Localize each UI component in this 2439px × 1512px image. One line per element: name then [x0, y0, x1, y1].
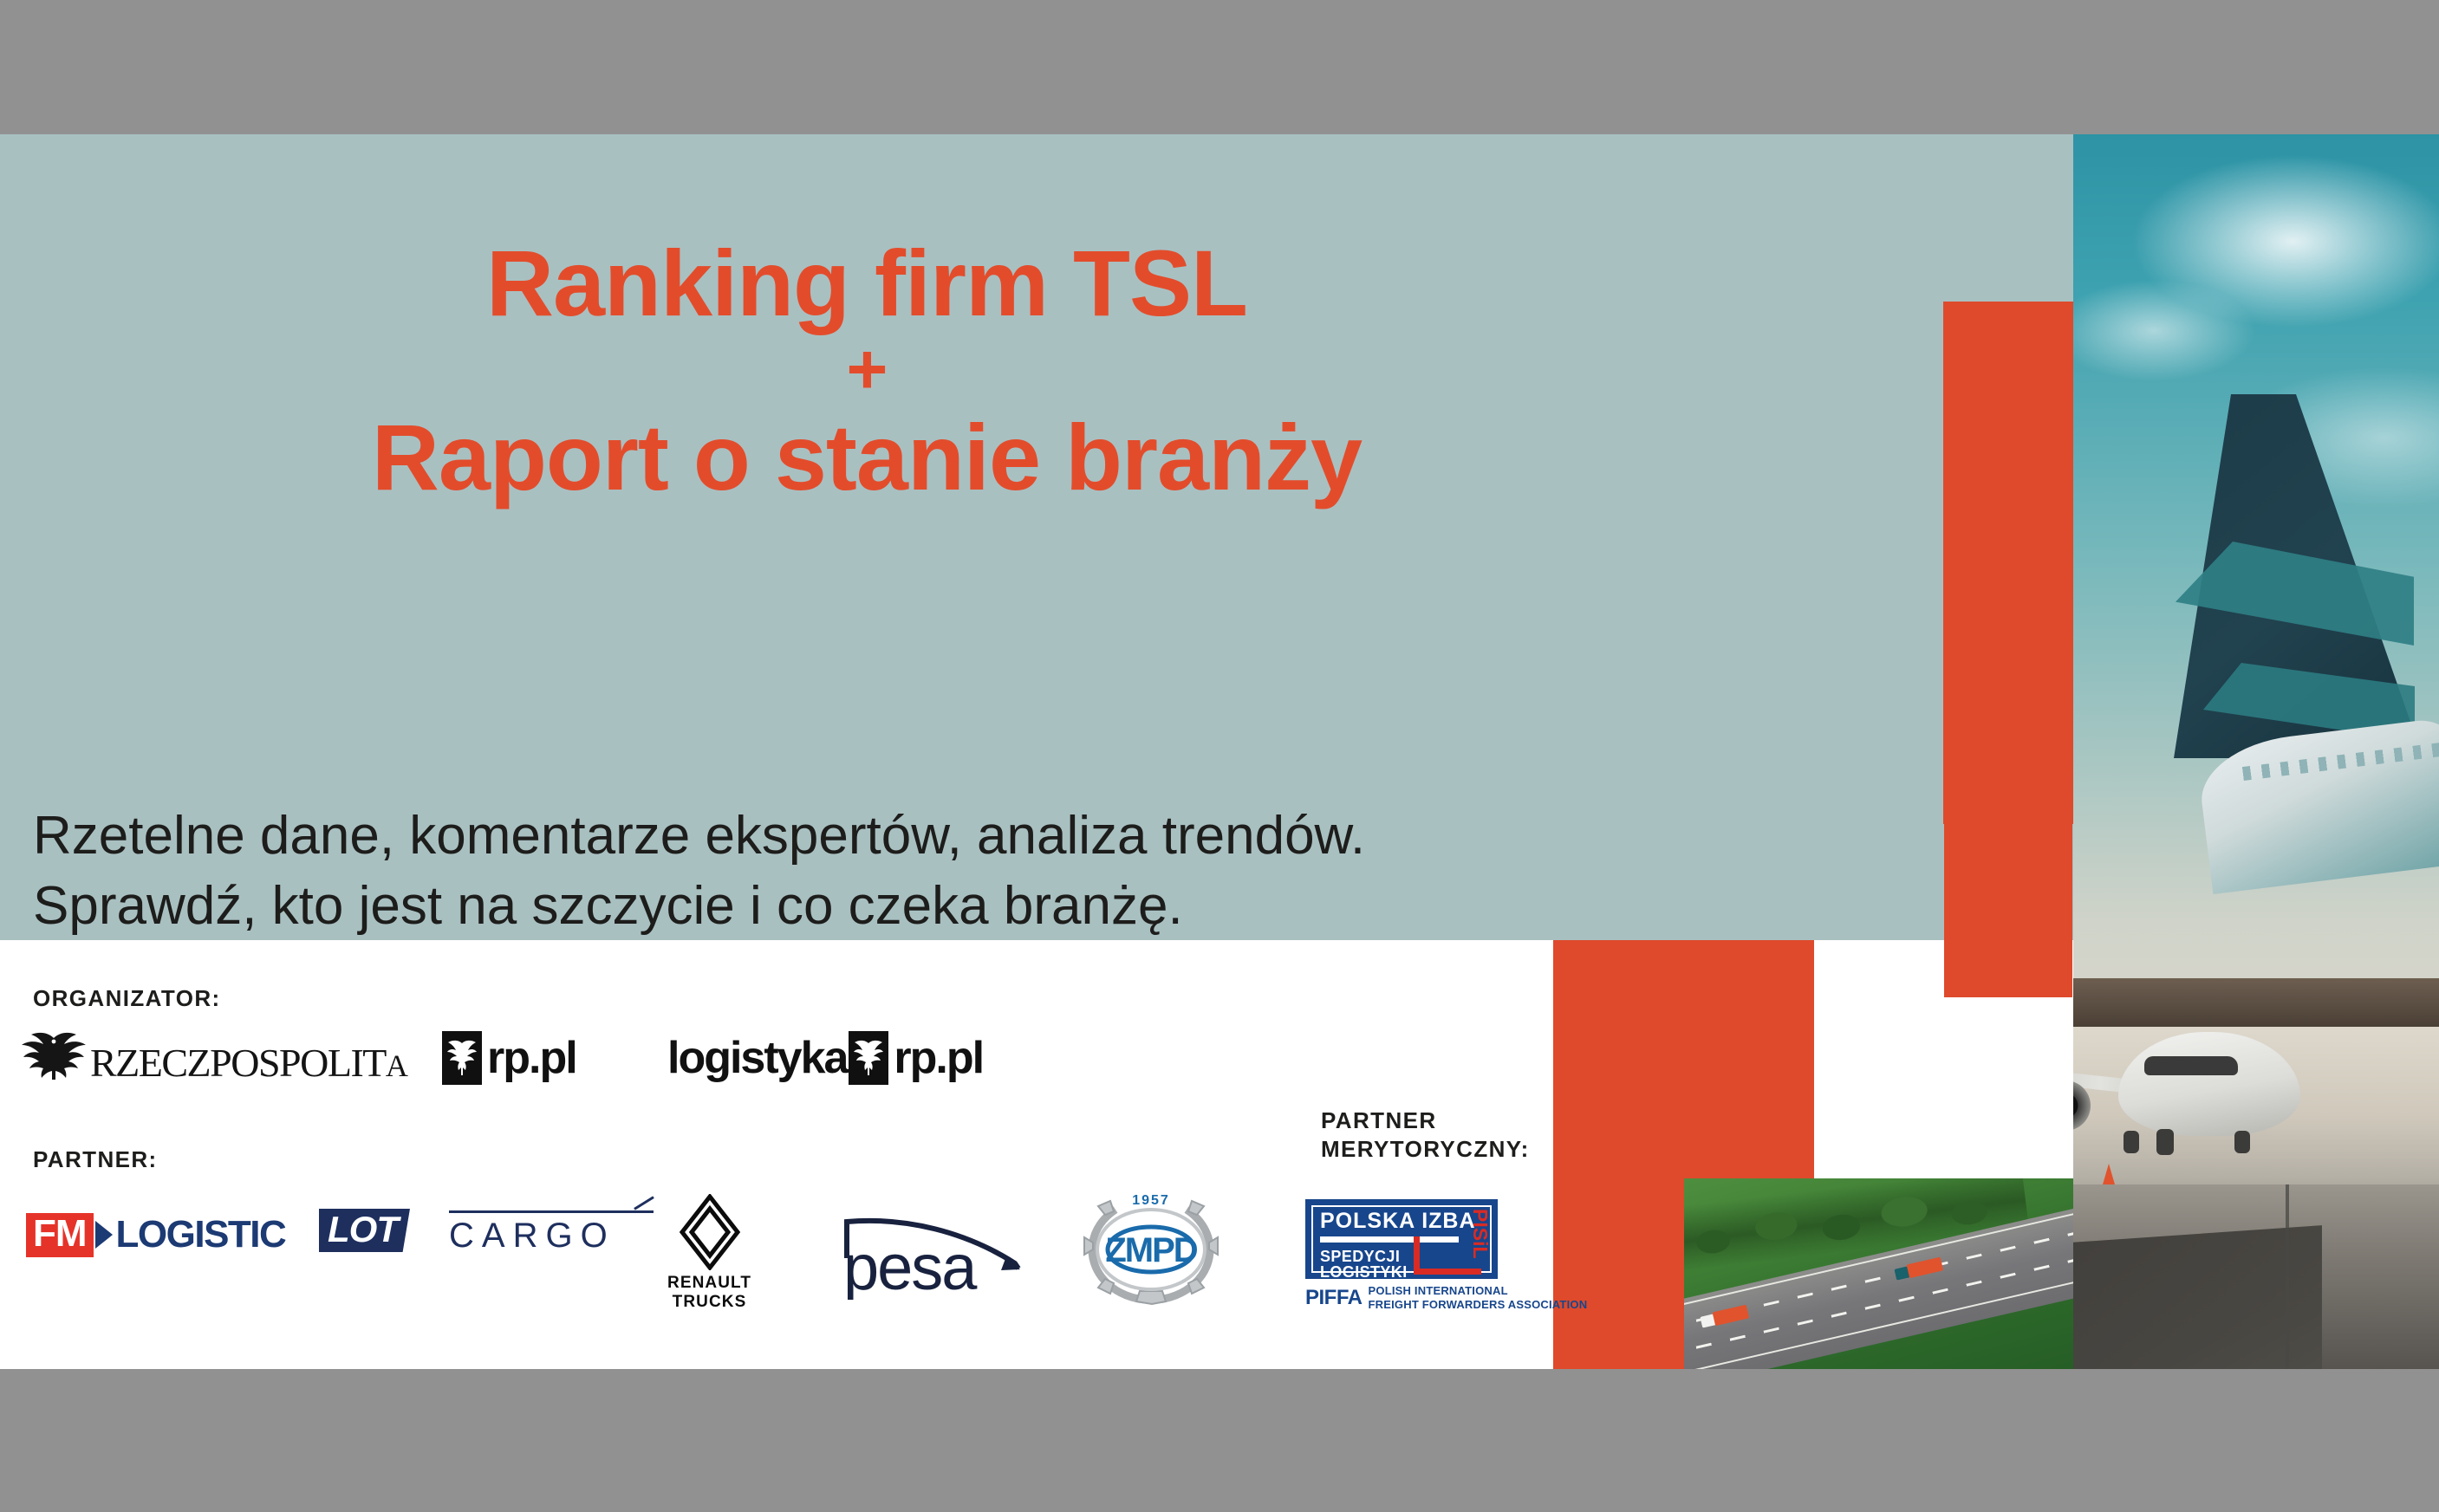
banner-canvas: Ranking firm TSL + Raport o stanie branż… — [0, 134, 2439, 1369]
airplane-nose-runway-photo — [2073, 1027, 2439, 1369]
hero-subtitle-line-2: Sprawdź, kto jest na szczycie i co czeka… — [33, 872, 1810, 942]
logo-renault-trucks[interactable]: RENAULT TRUCKS — [667, 1194, 751, 1313]
logo-lot-cargo[interactable]: LOT CARGO — [319, 1209, 410, 1252]
renault-word: RENAULT — [667, 1274, 751, 1293]
orange-block-right-thin — [1944, 824, 2072, 997]
organizer-label: ORGANIZATOR: — [33, 985, 221, 1012]
logo-zmpd[interactable]: ZMPD 1957 — [1070, 1189, 1232, 1311]
logistyka-wordmark: logistyka — [667, 1035, 847, 1080]
piffa-block: PIFFA POLISH INTERNATIONAL FREIGHT FORWA… — [1305, 1284, 1587, 1311]
headline-block: Ranking firm TSL + Raport o stanie branż… — [0, 234, 1733, 508]
pisil-logistyki: LOGISTYKI — [1320, 1263, 1408, 1281]
fm-logistic-wordmark: LOGISTIC — [116, 1216, 286, 1254]
rp-pl-wordmark: rp.pl — [894, 1035, 983, 1080]
logo-logistyka-rp-pl[interactable]: logistyka rp.pl — [667, 1031, 983, 1085]
logo-fm-logistic[interactable]: FM LOGISTIC — [26, 1213, 285, 1257]
lot-wordmark: LOT — [319, 1209, 410, 1252]
pesa-mark: pesa — [836, 1206, 1032, 1300]
landing-gear-left — [2124, 1131, 2139, 1153]
cargo-block: CARGO — [449, 1210, 654, 1253]
piffa-line-2: FREIGHT FORWARDERS ASSOCIATION — [1369, 1298, 1588, 1312]
headline-plus: + — [0, 333, 1733, 408]
rp-eagle-badge — [849, 1031, 888, 1085]
logo-pisil[interactable]: POLSKA IZBA SPEDYCJI LOGISTYKI PISiL PIF… — [1305, 1199, 1587, 1311]
eagle-icon — [853, 1039, 884, 1077]
pisil-spedycji: SPEDYCJI — [1320, 1248, 1400, 1265]
rzeczpospolita-word-main: RZECZPOSPOLIT — [90, 1041, 386, 1085]
chevron-right-icon — [95, 1221, 113, 1249]
rp-eagle-badge — [442, 1031, 482, 1085]
pisil-white-bar — [1320, 1236, 1459, 1243]
rzeczpospolita-wordmark: RZECZPOSPOLITA — [90, 1043, 406, 1083]
page-title: Ranking firm TSL — [0, 234, 1733, 333]
page-subtitle-title: Raport o stanie branży — [0, 408, 1733, 507]
cockpit-window — [2144, 1056, 2238, 1075]
highway-trucks-photo — [1684, 1178, 2073, 1369]
logo-rzeczpospolita[interactable]: RZECZPOSPOLITA — [19, 1029, 406, 1083]
cargo-wordmark: CARGO — [449, 1218, 654, 1253]
landing-gear-right — [2234, 1131, 2250, 1153]
pesa-wordmark: pesa — [843, 1231, 978, 1300]
piffa-abbr: PIFFA — [1305, 1288, 1363, 1308]
pisil-badge: POLSKA IZBA SPEDYCJI LOGISTYKI PISiL — [1305, 1199, 1498, 1279]
eagle-icon — [19, 1029, 88, 1083]
runway-seam — [2286, 1184, 2289, 1369]
logo-pesa[interactable]: pesa — [836, 1206, 1032, 1304]
expert-partner-label: PARTNER MERYTORYCZNY: — [1321, 1106, 1530, 1165]
traffic-cone — [2103, 1164, 2115, 1184]
letterbox-background: Ranking firm TSL + Raport o stanie branż… — [0, 0, 2439, 1512]
piffa-line-1: POLISH INTERNATIONAL — [1369, 1284, 1588, 1298]
rp-pl-wordmark: rp.pl — [487, 1035, 576, 1080]
zmpd-wordmark: ZMPD — [1105, 1231, 1197, 1269]
pisil-side-wordmark: PISiL — [1470, 1209, 1490, 1259]
partner-label: PARTNER: — [33, 1146, 158, 1173]
zmpd-year: 1957 — [1132, 1193, 1170, 1208]
tarmac-strip — [2073, 978, 2439, 1027]
eagle-icon — [446, 1039, 478, 1077]
renault-trucks-wordmark: RENAULT TRUCKS — [667, 1274, 751, 1313]
hero-subtitle-line-1: Rzetelne dane, komentarze ekspertów, ana… — [33, 801, 1810, 872]
orange-block-right-tall — [1943, 302, 2073, 824]
rzeczpospolita-word-tail: A — [386, 1048, 407, 1083]
fm-mark: FM — [26, 1213, 94, 1257]
logo-rp-pl[interactable]: rp.pl — [442, 1031, 576, 1085]
renault-diamond-icon — [679, 1194, 741, 1270]
landing-gear-nose — [2156, 1129, 2174, 1155]
zmpd-mark: ZMPD 1957 — [1070, 1189, 1232, 1307]
cargo-rule — [449, 1210, 654, 1213]
piffa-full-name: POLISH INTERNATIONAL FREIGHT FORWARDERS … — [1369, 1284, 1588, 1311]
expert-partner-label-line-2: MERYTORYCZNY: — [1321, 1135, 1530, 1164]
trucks-word: TRUCKS — [667, 1293, 751, 1312]
airplane-tail-sky-photo — [2073, 134, 2439, 1027]
expert-partner-label-line-1: PARTNER — [1321, 1106, 1530, 1135]
pisil-line-1: POLSKA IZBA — [1320, 1210, 1476, 1232]
hero-subtitle: Rzetelne dane, komentarze ekspertów, ana… — [33, 801, 1810, 941]
lot-mark: LOT — [319, 1209, 410, 1252]
